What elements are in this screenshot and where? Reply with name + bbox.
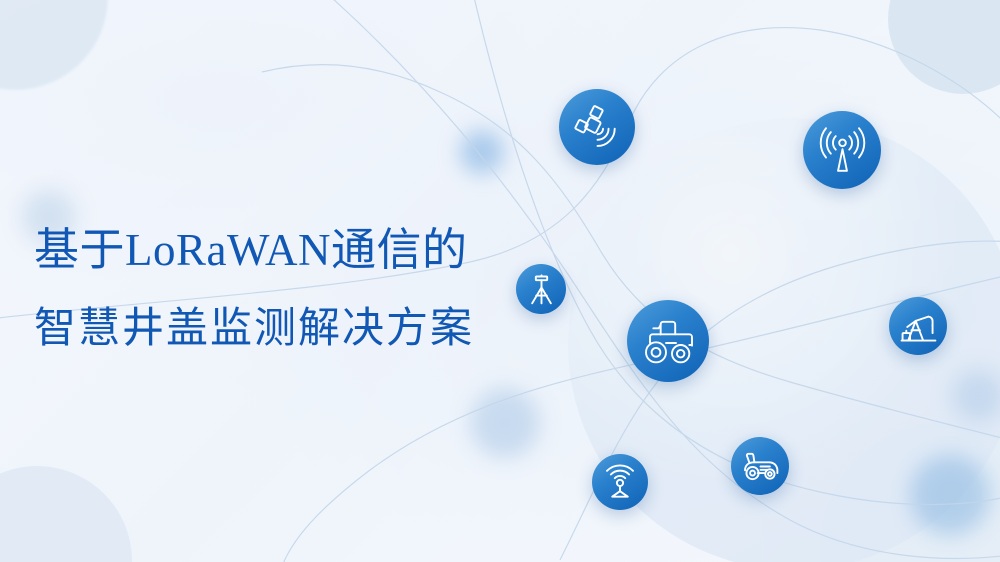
node-satellite[interactable] xyxy=(559,89,635,165)
tractor-icon xyxy=(636,309,700,373)
title-line-1: 基于LoRaWAN通信的 xyxy=(34,228,474,273)
survey-tripod-icon xyxy=(522,270,561,309)
node-antenna[interactable] xyxy=(803,111,881,189)
node-mower[interactable] xyxy=(731,437,789,495)
wireless-sensor-icon xyxy=(598,460,642,504)
node-tripod[interactable] xyxy=(516,264,566,314)
title-line-2: 智慧井盖监测解决方案 xyxy=(34,307,474,349)
node-sensor[interactable] xyxy=(592,454,648,510)
oil-pumpjack-icon xyxy=(896,304,941,349)
satellite-icon xyxy=(568,98,627,157)
node-oilpump[interactable] xyxy=(889,297,947,355)
node-tractor[interactable] xyxy=(627,300,709,382)
page-title: 基于LoRaWAN通信的 智慧井盖监测解决方案 xyxy=(34,228,474,349)
antenna-tower-icon xyxy=(812,120,873,181)
cover-slide: 基于LoRaWAN通信的 智慧井盖监测解决方案 xyxy=(0,0,1000,562)
robot-mower-icon xyxy=(738,444,783,489)
